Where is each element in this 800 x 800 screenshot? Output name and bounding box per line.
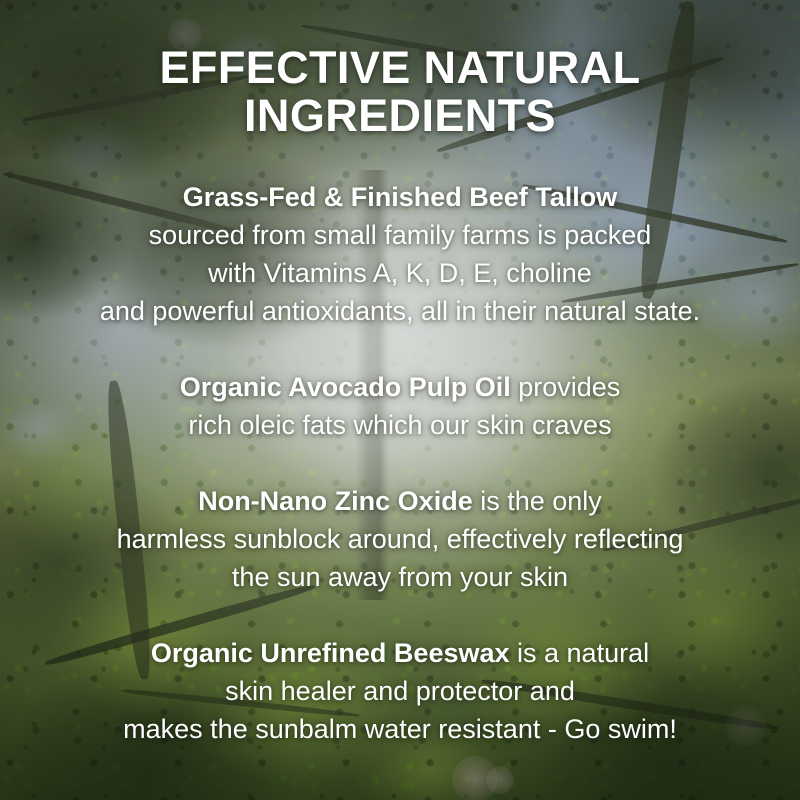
ingredient-block: Grass-Fed & Finished Beef Tallowsourced … bbox=[0, 178, 800, 330]
title-line-2: INGREDIENTS bbox=[0, 92, 800, 140]
ingredient-body-line: makes the sunbalm water resistant - Go s… bbox=[0, 710, 800, 748]
ingredient-body-line: skin healer and protector and bbox=[0, 672, 800, 710]
ingredient-name: Organic Avocado Pulp Oil bbox=[180, 372, 511, 402]
ingredient-body-line: rich oleic fats which our skin craves bbox=[0, 406, 800, 444]
ingredient-body-line: sourced from small family farms is packe… bbox=[0, 216, 800, 254]
ingredient-body-line: the sun away from your skin bbox=[0, 558, 800, 596]
ingredient-name: Organic Unrefined Beeswax bbox=[151, 638, 510, 668]
ingredient-heading-line: Organic Unrefined Beeswax is a natural bbox=[0, 634, 800, 672]
poster-content: EFFECTIVE NATURAL INGREDIENTS Grass-Fed … bbox=[0, 0, 800, 800]
ingredient-block: Organic Unrefined Beeswax is a naturalsk… bbox=[0, 634, 800, 748]
ingredient-block: Organic Avocado Pulp Oil providesrich ol… bbox=[0, 368, 800, 444]
ingredient-body-line: with Vitamins A, K, D, E, choline bbox=[0, 254, 800, 292]
ingredient-heading-tail: provides bbox=[511, 372, 621, 402]
ingredient-body-line: harmless sunblock around, effectively re… bbox=[0, 520, 800, 558]
title-line-1: EFFECTIVE NATURAL bbox=[0, 44, 800, 92]
ingredient-body-line: and powerful antioxidants, all in their … bbox=[0, 292, 800, 330]
page-title: EFFECTIVE NATURAL INGREDIENTS bbox=[0, 44, 800, 140]
ingredient-name: Grass-Fed & Finished Beef Tallow bbox=[183, 182, 618, 212]
ingredients-poster: EFFECTIVE NATURAL INGREDIENTS Grass-Fed … bbox=[0, 0, 800, 800]
ingredient-heading-tail: is the only bbox=[473, 486, 602, 516]
ingredient-heading-line: Non-Nano Zinc Oxide is the only bbox=[0, 482, 800, 520]
ingredient-heading-tail: is a natural bbox=[510, 638, 650, 668]
ingredient-block: Non-Nano Zinc Oxide is the onlyharmless … bbox=[0, 482, 800, 596]
ingredient-name: Non-Nano Zinc Oxide bbox=[198, 486, 473, 516]
ingredient-heading-line: Grass-Fed & Finished Beef Tallow bbox=[0, 178, 800, 216]
ingredient-heading-line: Organic Avocado Pulp Oil provides bbox=[0, 368, 800, 406]
ingredient-list: Grass-Fed & Finished Beef Tallowsourced … bbox=[0, 178, 800, 748]
